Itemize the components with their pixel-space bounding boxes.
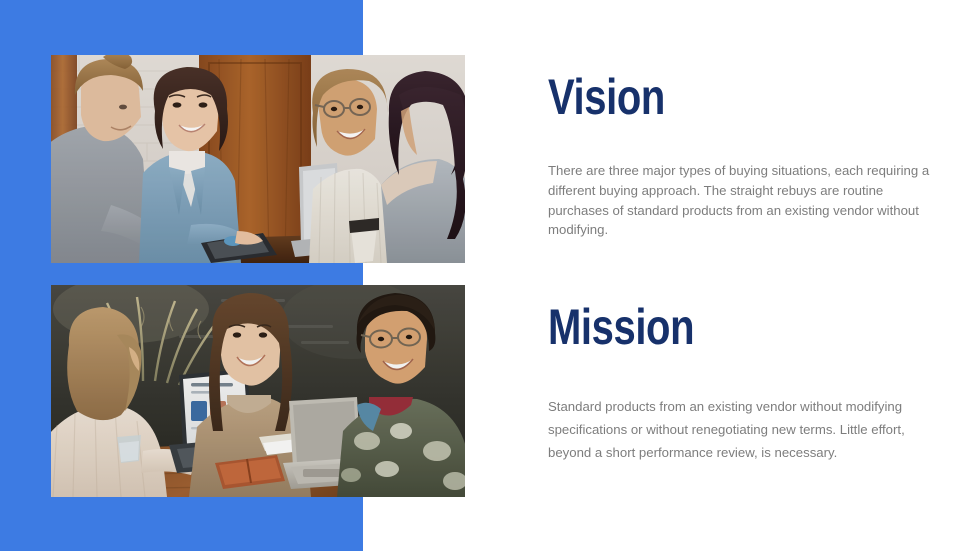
- vision-photo: [51, 55, 465, 263]
- vision-heading: Vision: [548, 72, 665, 122]
- vision-photo-illustration: [51, 55, 465, 263]
- mission-photo-illustration: [51, 285, 465, 497]
- mission-heading: Mission: [548, 302, 694, 352]
- mission-photo: [51, 285, 465, 497]
- mission-body-text: Standard products from an existing vendo…: [548, 395, 930, 464]
- slide-canvas: Vision There are three major types of bu…: [0, 0, 980, 551]
- vision-body-text: There are three major types of buying si…: [548, 161, 930, 240]
- content-column: Vision There are three major types of bu…: [548, 0, 938, 551]
